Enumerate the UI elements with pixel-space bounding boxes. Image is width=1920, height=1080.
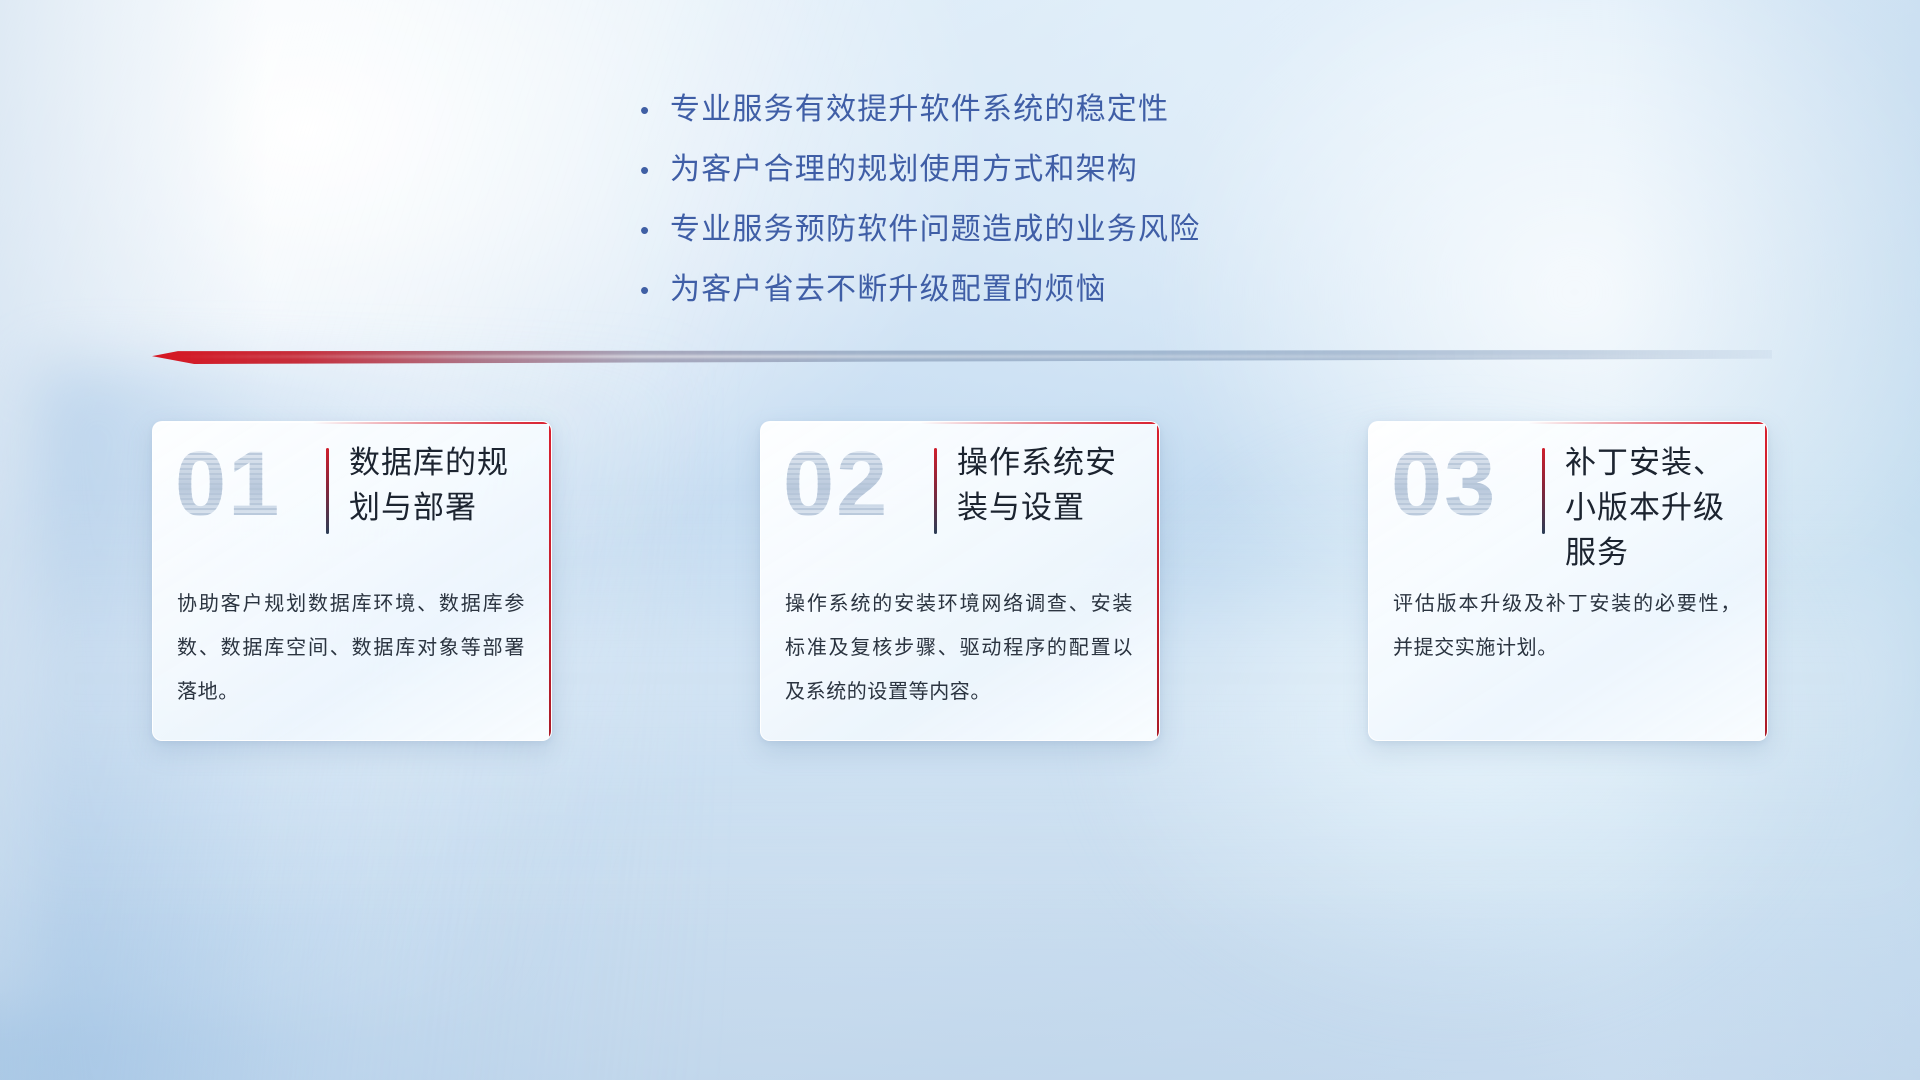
section-divider (152, 350, 1772, 364)
list-item: • 为客户合理的规划使用方式和架构 (640, 148, 1280, 192)
card-header: 01 数据库的规划与部署 (153, 422, 551, 568)
card-description: 操作系统的安装环境网络调查、安装标准及复核步骤、驱动程序的配置以及系统的设置等内… (785, 582, 1133, 714)
list-item: • 专业服务有效提升软件系统的稳定性 (640, 88, 1280, 132)
card-title-separator (326, 448, 329, 534)
bullet-dot-icon: • (640, 148, 670, 192)
card-header: 03 补丁安装、小版本升级服务 (1369, 422, 1767, 568)
bullet-dot-icon: • (640, 208, 670, 252)
bullet-dot-icon: • (640, 88, 670, 132)
card-title: 补丁安装、小版本升级服务 (1565, 440, 1755, 575)
card-title: 数据库的规划与部署 (349, 440, 539, 530)
list-item: • 专业服务预防软件问题造成的业务风险 (640, 208, 1280, 252)
card-description: 协助客户规划数据库环境、数据库参数、数据库空间、数据库对象等部署落地。 (177, 582, 525, 714)
card-title: 操作系统安装与设置 (957, 440, 1147, 530)
bullet-dot-icon: • (640, 268, 670, 312)
card-title-separator (934, 448, 937, 534)
card-description: 评估版本升级及补丁安装的必要性，并提交实施计划。 (1393, 582, 1741, 670)
card-header: 02 操作系统安装与设置 (761, 422, 1159, 568)
card-number-watermark: 01 (175, 438, 281, 530)
service-card-03[interactable]: 03 补丁安装、小版本升级服务 评估版本升级及补丁安装的必要性，并提交实施计划。 (1368, 421, 1768, 741)
service-card-02[interactable]: 02 操作系统安装与设置 操作系统的安装环境网络调查、安装标准及复核步骤、驱动程… (760, 421, 1160, 741)
bullet-text: 为客户省去不断升级配置的烦恼 (670, 268, 1107, 312)
divider-highlight (168, 355, 1756, 358)
bullet-text: 为客户合理的规划使用方式和架构 (670, 148, 1138, 192)
card-number-watermark: 02 (783, 438, 889, 530)
card-number-watermark: 03 (1391, 438, 1497, 530)
bullet-text: 专业服务预防软件问题造成的业务风险 (670, 208, 1200, 252)
list-item: • 为客户省去不断升级配置的烦恼 (640, 268, 1280, 312)
card-title-separator (1542, 448, 1545, 534)
bullet-text: 专业服务有效提升软件系统的稳定性 (670, 88, 1169, 132)
service-card-01[interactable]: 01 数据库的规划与部署 协助客户规划数据库环境、数据库参数、数据库空间、数据库… (152, 421, 552, 741)
service-card-list: 01 数据库的规划与部署 协助客户规划数据库环境、数据库参数、数据库空间、数据库… (152, 421, 1768, 741)
benefits-bullet-list: • 专业服务有效提升软件系统的稳定性 • 为客户合理的规划使用方式和架构 • 专… (0, 88, 1920, 328)
